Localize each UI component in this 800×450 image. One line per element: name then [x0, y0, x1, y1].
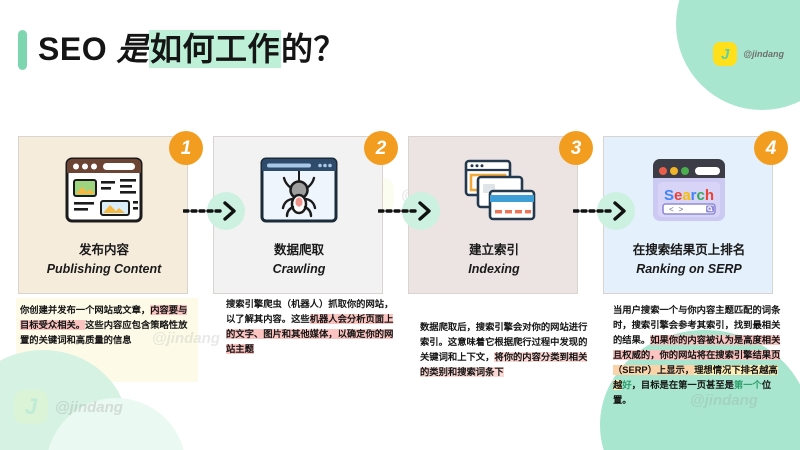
step-label-cn: 数据爬取 [214, 241, 384, 260]
svg-text:< >: < > [669, 206, 684, 215]
description-segment: 如果你的内容被认 [650, 335, 724, 345]
description-segment: 第一个 [734, 380, 762, 390]
title-part-tail: 的？ [281, 31, 346, 67]
description-segment: 着它根据爬行过程中发现的 [476, 337, 588, 347]
arrow-3-to-4 [573, 196, 635, 226]
title-part-seo: SEO [38, 31, 116, 67]
arrow-1-to-2 [183, 196, 245, 226]
step-description-4: 当用户搜索一个与你内容主题匹配的词条时，搜索引擎会参考其索引，找到最相关的结果。… [613, 303, 785, 408]
description-segment: 的结果。 [613, 335, 650, 345]
step-description-1: 你创建并发布一个网站或文章，内容要与目标受众相关。这些内容应包含策略性放置的关键… [20, 303, 192, 348]
jindang-logo-icon: J [713, 42, 737, 66]
description-segment: （SERP）上显示， [613, 365, 694, 375]
step-label-1: 发布内容 Publishing Content [19, 241, 189, 280]
dotted-arrow-icon [378, 196, 440, 226]
step-badge-4: 4 [754, 131, 788, 165]
step-label-4: 在搜索结果页上排名 Ranking on SERP [604, 241, 774, 280]
description-segment: 关键词和上下文， [420, 352, 494, 362]
description-segment: 关。 [67, 320, 86, 330]
step-card-publishing[interactable]: 1 发布内容 [18, 136, 188, 294]
description-segment: 第一页甚至是 [678, 380, 734, 390]
description-segment: 的网站将在搜索引擎结果页 [669, 350, 781, 360]
page-title: SEO 是如何工作的？ [38, 24, 346, 70]
title-accent-bar [18, 30, 27, 70]
step-label-cn: 在搜索结果页上排名 [604, 241, 774, 260]
step-badge-3: 3 [559, 131, 593, 165]
description-segment: 会参考其索引，找到最相关 [669, 320, 781, 330]
arrow-2-to-3 [378, 196, 440, 226]
description-segment: ，目标是在 [632, 380, 679, 390]
step-label-cn: 建立索引 [409, 241, 579, 260]
header: SEO 是如何工作的？ J @jindang [0, 18, 800, 80]
description-segment: 搜索引擎爬虫（机器人）抓 [226, 299, 338, 309]
step-label-2: 数据爬取 Crawling [214, 241, 384, 280]
description-segment: 你创建并发布一个网站或文 [20, 305, 132, 315]
step-badge-1: 1 [169, 131, 203, 165]
step-label-3: 建立索引 Indexing [409, 241, 579, 280]
brand-handle: @jindang [743, 49, 784, 59]
step-label-en: Indexing [409, 260, 579, 279]
step-label-en: Crawling [214, 260, 384, 279]
browser-article-icon [19, 151, 189, 229]
description-segment: 章， [132, 305, 151, 315]
step-description-2: 搜索引擎爬虫（机器人）抓取你的网站，以了解其内容。这些机器人会分析页面上的文字、… [226, 297, 398, 357]
description-segment: 机器人会分析页面 [310, 314, 384, 324]
dotted-arrow-icon [183, 196, 245, 226]
step-description-3: 数据爬取后，搜索引擎会对你的网站进行索引。这意味着它根据爬行过程中发现的关键词和… [420, 320, 592, 380]
description-segment: 理想情况 [694, 365, 731, 375]
title-part-shi: 是 [116, 31, 149, 67]
description-segment: 当用户搜索一个与你内容主 [613, 305, 725, 315]
description-segment: 这些内容应包含策略性 [85, 320, 178, 330]
step-label-en: Publishing Content [19, 260, 189, 279]
description-segment: 词条下 [476, 367, 504, 377]
svg-text:Search: Search [664, 187, 714, 204]
description-segment: 容。这些 [273, 314, 310, 324]
description-segment: 好 [622, 380, 631, 390]
description-segment: 息 [122, 335, 131, 345]
step-badge-2: 2 [364, 131, 398, 165]
step-label-cn: 发布内容 [19, 241, 189, 260]
step-label-en: Ranking on SERP [604, 260, 774, 279]
description-segment: 将你的内 [494, 352, 531, 362]
dotted-arrow-icon [573, 196, 635, 226]
title-part-highlight: 如何工作 [149, 30, 281, 68]
brand-logo: J @jindang [713, 42, 784, 66]
description-segment: 数据爬取后，搜索引擎会对 [420, 322, 532, 332]
